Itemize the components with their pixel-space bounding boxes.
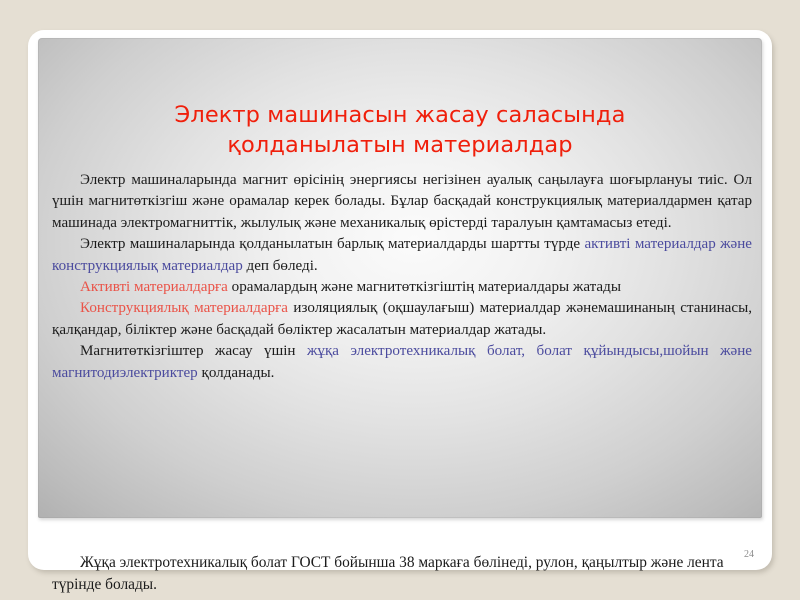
paragraph-classification: Электр машиналарында қолданылатын барлық… [52, 234, 752, 277]
emphasis-construction-materials: Конструкциялық материалдарға [80, 300, 288, 316]
paragraph-classification-lead: Электр машиналарында қолданылатын барлық… [80, 236, 584, 252]
paragraph-magnetic-core-lead: Магнитөткізгіштер жасау үшін [80, 343, 307, 359]
paragraph-gost-grades-text: Жұқа электротехникалық болат ГОСТ бойынш… [52, 554, 724, 593]
paragraph-magnetic-core: Магнитөткізгіштер жасау үшін жұқа электр… [52, 341, 752, 384]
slide-title: Электр машинасын жасау саласында қолданы… [78, 100, 722, 160]
paragraph-gost-grades: Жұқа электротехникалық болат ГОСТ бойынш… [52, 552, 752, 596]
paragraph-construction-materials: Конструкциялық материалдарға изоляциялық… [52, 298, 752, 341]
paragraph-intro-text: Электр машиналарында магнит өрісінің эне… [52, 172, 752, 231]
slide-root: Электр машинасын жасау саласында қолданы… [0, 0, 800, 600]
slide-card: Электр машинасын жасау саласында қолданы… [28, 30, 772, 570]
paragraph-active-materials-tail: орамалардың және магнитөткізгіштің матер… [228, 279, 621, 295]
emphasis-active-materials: Активті материалдарға [80, 279, 228, 295]
paragraph-magnetic-core-tail: қолданады. [198, 365, 275, 381]
paragraph-intro: Электр машиналарында магнит өрісінің эне… [52, 170, 752, 234]
slide-body: Электр машиналарында магнит өрісінің эне… [52, 170, 752, 384]
page-number: 24 [744, 549, 754, 560]
paragraph-classification-tail: деп бөледі. [243, 258, 318, 274]
paragraph-active-materials: Активті материалдарға орамалардың және м… [52, 277, 752, 298]
slide-content-panel: Электр машинасын жасау саласында қолданы… [38, 38, 762, 518]
